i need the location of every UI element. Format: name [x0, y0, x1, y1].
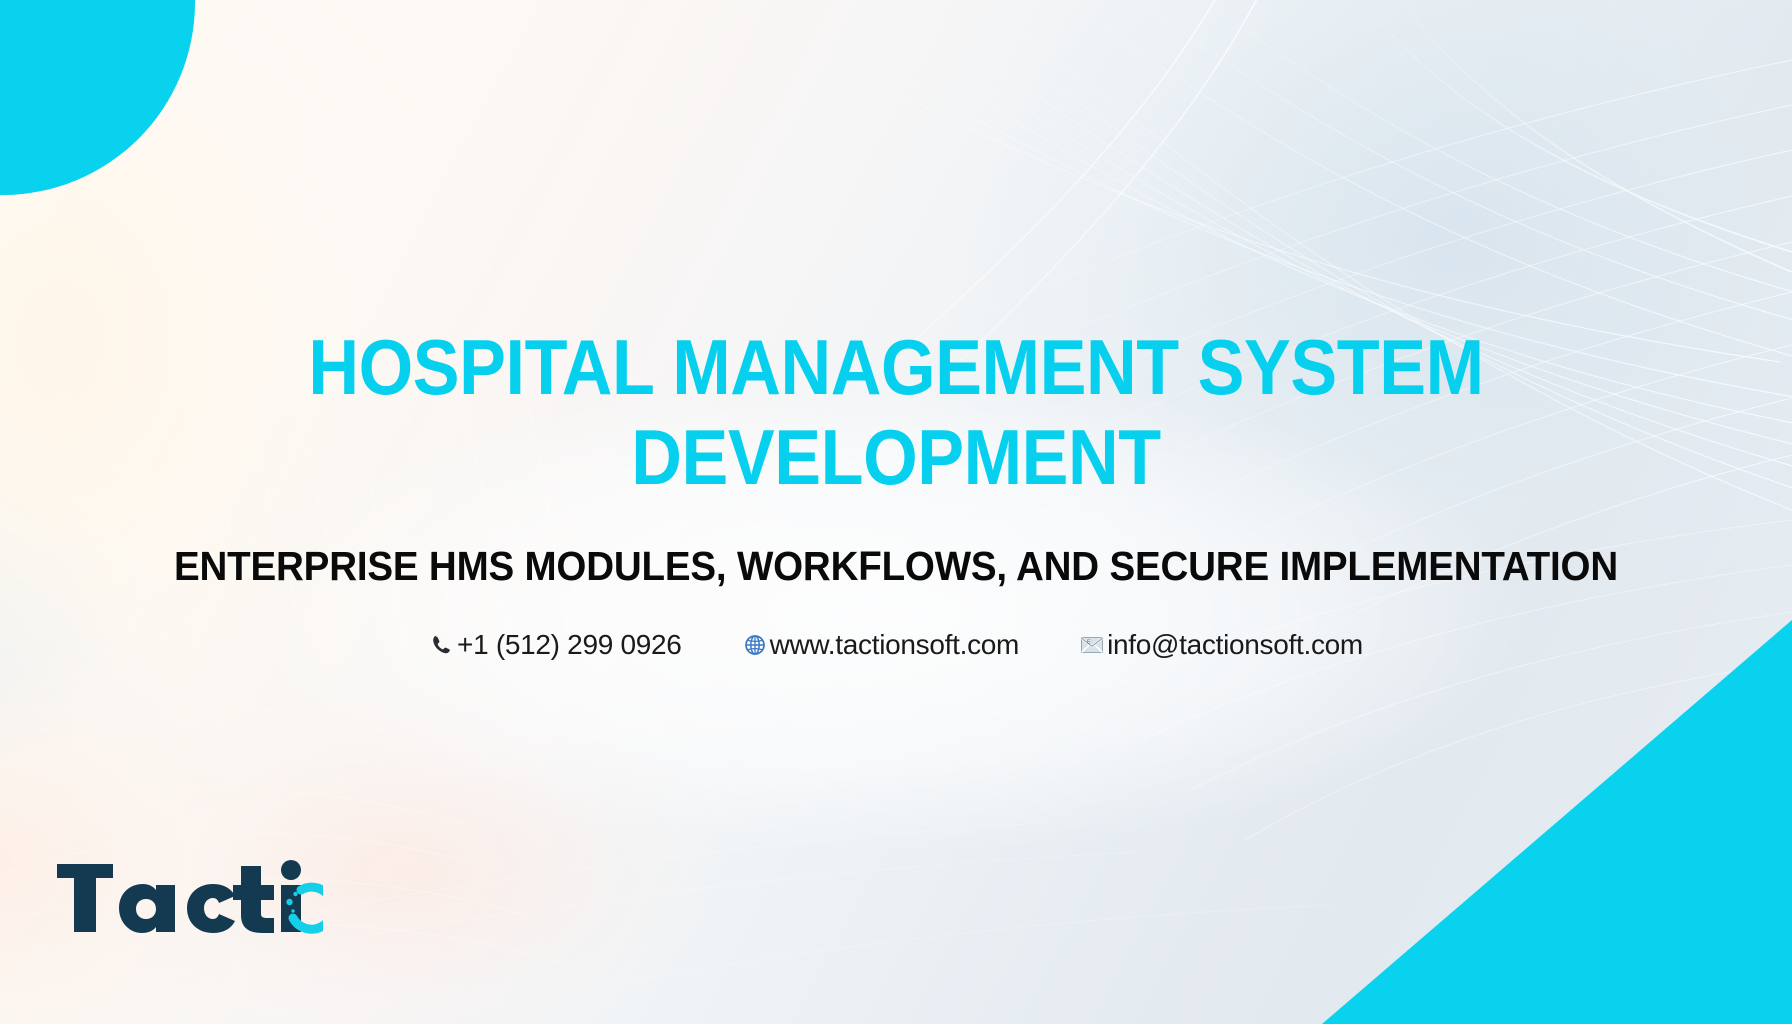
hero-content: HOSPITAL MANAGEMENT SYSTEM DEVELOPMENT E… [0, 0, 1792, 1024]
contact-website[interactable]: www.tactionsoft.com [742, 631, 1020, 659]
title-line-2: DEVELOPMENT [198, 412, 1595, 502]
contact-phone-value: +1 (512) 299 0926 [457, 631, 682, 659]
title-line-1: HOSPITAL MANAGEMENT SYSTEM [198, 322, 1595, 412]
contact-email[interactable]: E info@tactionsoft.com [1079, 631, 1363, 659]
contact-phone[interactable]: +1 (512) 299 0926 [429, 631, 682, 659]
envelope-icon: E [1079, 632, 1105, 658]
contact-email-value: info@tactionsoft.com [1107, 631, 1363, 659]
hero-banner: HOSPITAL MANAGEMENT SYSTEM DEVELOPMENT E… [0, 0, 1792, 1024]
page-subtitle: ENTERPRISE HMS MODULES, WORKFLOWS, AND S… [54, 542, 1738, 591]
globe-icon [742, 632, 768, 658]
contact-row: +1 (512) 299 0926 www.tactionsoft.com [0, 631, 1792, 659]
phone-icon [429, 632, 455, 658]
taction-logo[interactable]: Taction [55, 856, 323, 946]
contact-website-value: www.tactionsoft.com [770, 631, 1020, 659]
page-title: HOSPITAL MANAGEMENT SYSTEM DEVELOPMENT [0, 322, 1792, 503]
